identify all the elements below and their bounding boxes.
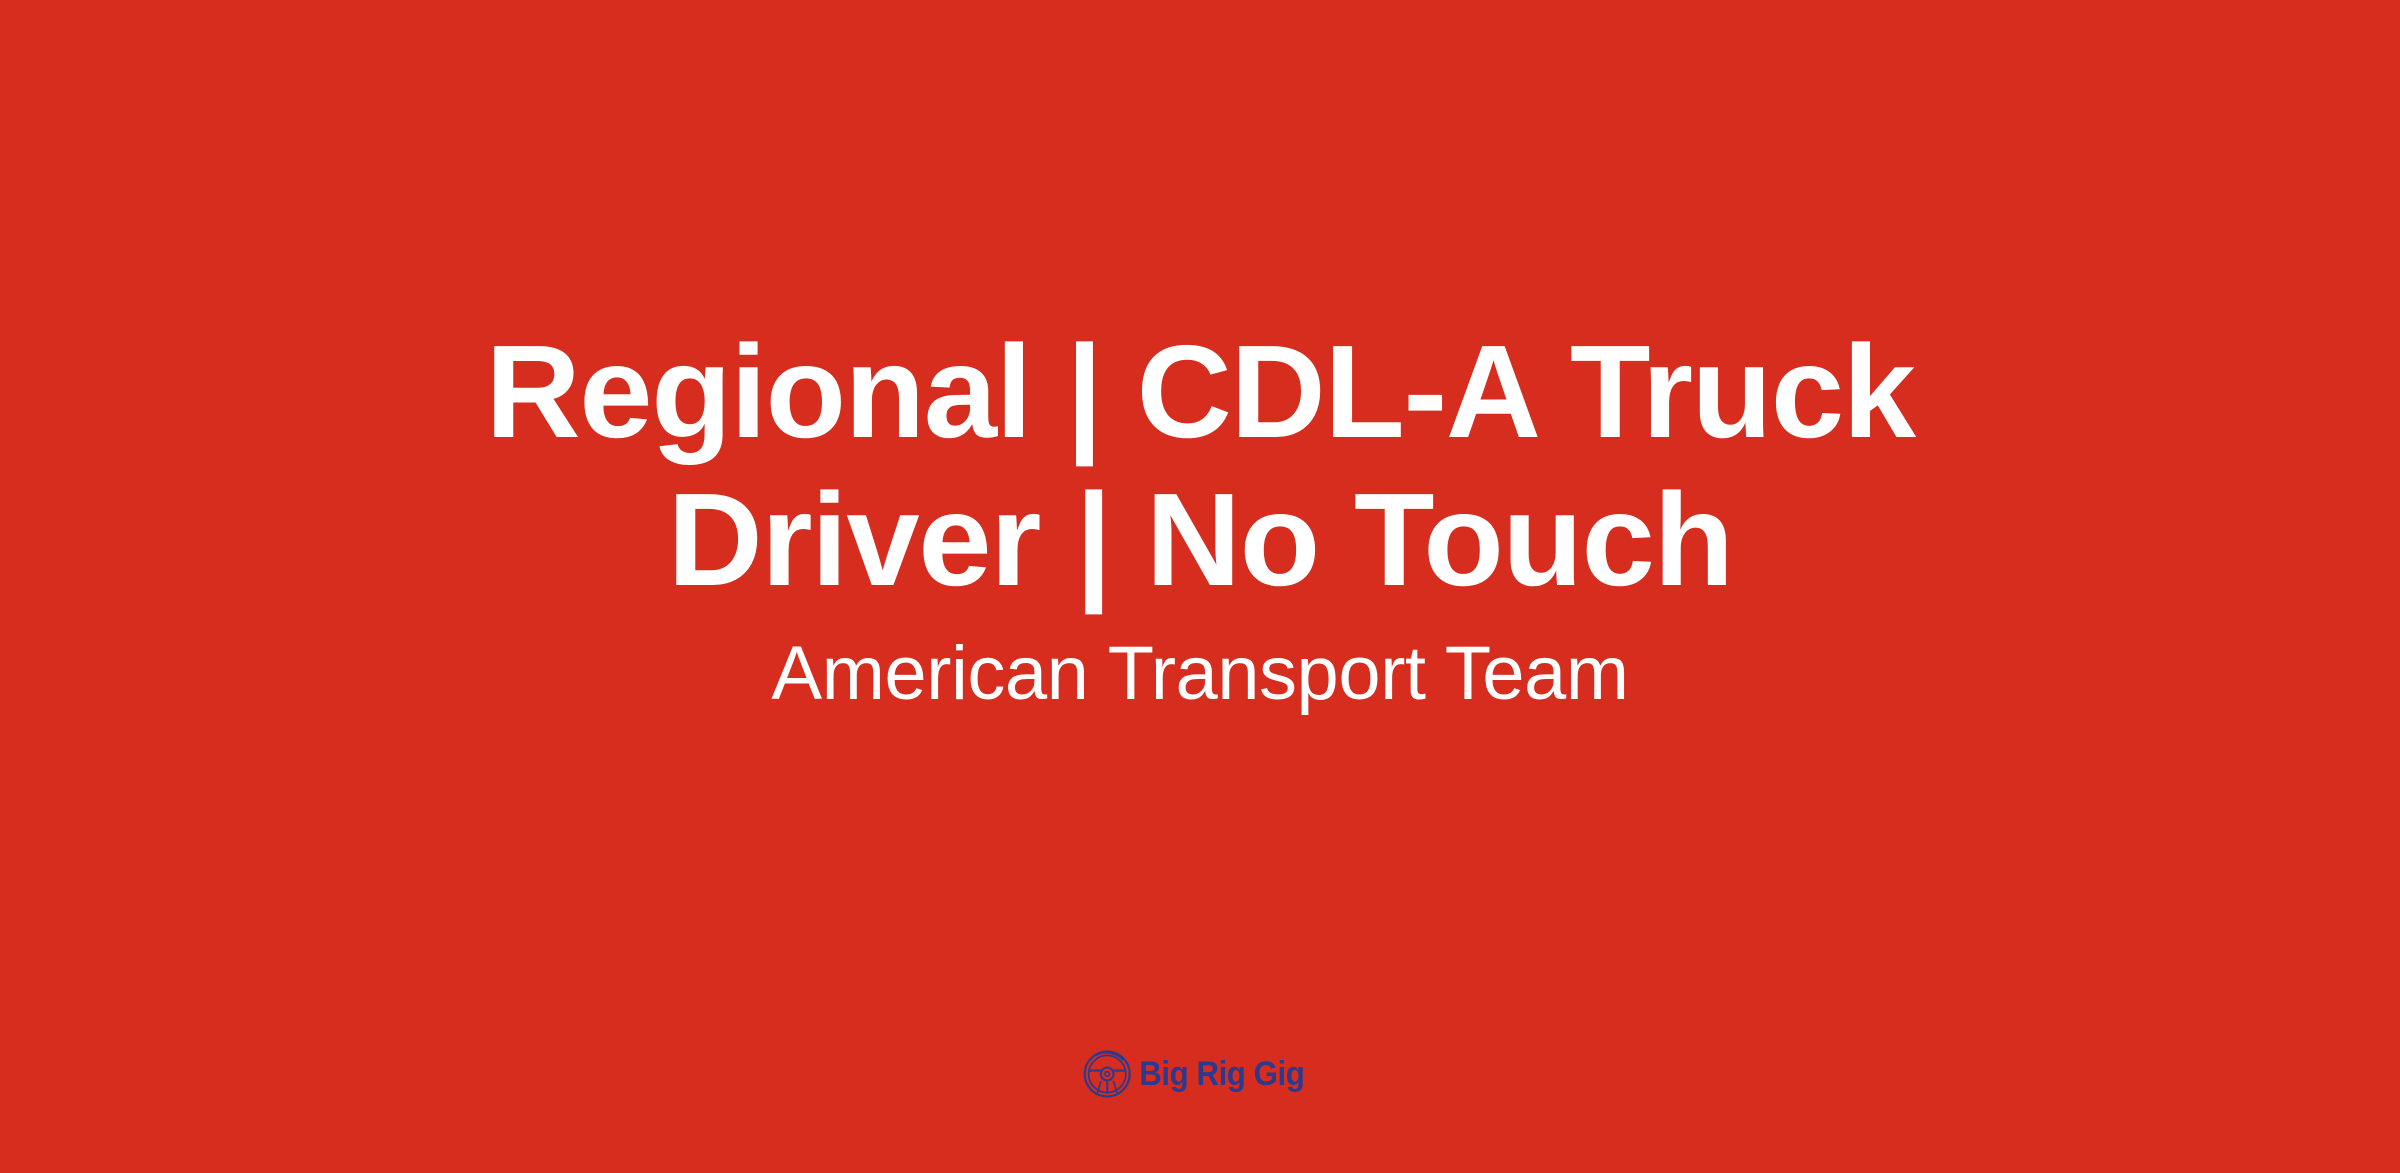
brand-wordmark: Big Rig Gig <box>1139 1057 1304 1091</box>
page-title: Regional | CDL-A Truck Driver | No Touch <box>300 318 2100 614</box>
steering-wheel-icon <box>1081 1048 1133 1100</box>
hero-section: Regional | CDL-A Truck Driver | No Touch… <box>0 0 2400 1020</box>
job-posting-banner: Regional | CDL-A Truck Driver | No Touch… <box>0 0 2400 1173</box>
company-name: American Transport Team <box>771 614 1628 720</box>
brand-logo[interactable]: Big Rig Gig <box>1081 1044 1319 1104</box>
